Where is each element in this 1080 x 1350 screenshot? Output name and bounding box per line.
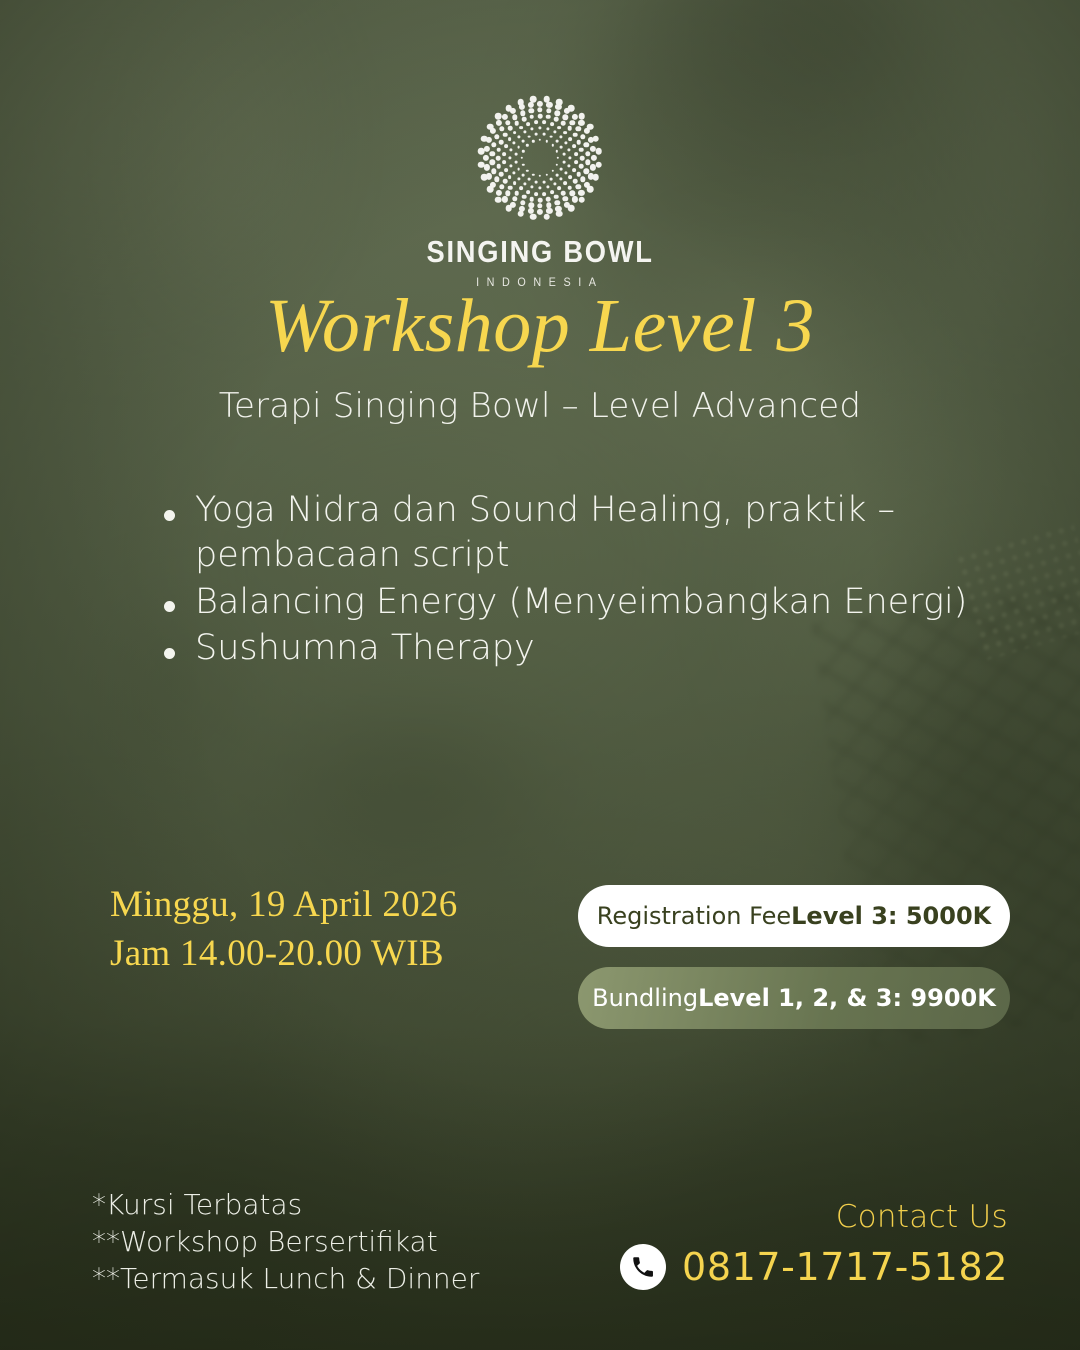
footnote-list: *Kursi Terbatas**Workshop Bersertifikat*… [92,1186,479,1298]
topic-item: Balancing Energy (Menyeimbangkan Energi) [152,580,1012,625]
mandala-dot-circle-icon [478,96,602,220]
brand-logo: SINGING BOWL INDONESIA [0,96,1080,289]
poster-canvas: SINGING BOWL INDONESIA Workshop Level 3 … [0,0,1080,1350]
contact-block: Contact Us 0817-1717-5182 [620,1200,1008,1290]
topic-item: Yoga Nidra dan Sound Healing, praktik – … [152,488,1012,578]
price-pill-registration[interactable]: Registration Fee Level 3: 5000K [578,885,1010,947]
price-lead-bundling: Bundling [592,984,698,1012]
schedule-time: Jam 14.00-20.00 WIB [110,929,458,978]
price-highlight-registration: Level 3: 5000K [791,902,991,930]
topic-list: Yoga Nidra dan Sound Healing, praktik – … [152,488,1012,673]
price-pill-bundling[interactable]: Bundling Level 1, 2, & 3: 9900K [578,967,1010,1029]
price-lead-registration: Registration Fee [597,902,791,930]
phone-icon[interactable] [620,1244,666,1290]
brand-name: SINGING BOWL [426,234,653,270]
price-highlight-bundling: Level 1, 2, & 3: 9900K [698,984,996,1012]
footnote-item: *Kursi Terbatas [92,1186,479,1223]
contact-label: Contact Us [620,1200,1008,1234]
page-title: Workshop Level 3 [0,288,1080,364]
schedule-date: Minggu, 19 April 2026 [110,880,458,929]
schedule-block: Minggu, 19 April 2026 Jam 14.00-20.00 WI… [110,880,458,978]
footnote-item: **Workshop Bersertifikat [92,1223,479,1260]
contact-phone-number[interactable]: 0817-1717-5182 [682,1245,1008,1289]
topic-item: Sushumna Therapy [152,626,1012,671]
page-subtitle: Terapi Singing Bowl – Level Advanced [0,386,1080,426]
footnote-item: **Termasuk Lunch & Dinner [92,1260,479,1297]
